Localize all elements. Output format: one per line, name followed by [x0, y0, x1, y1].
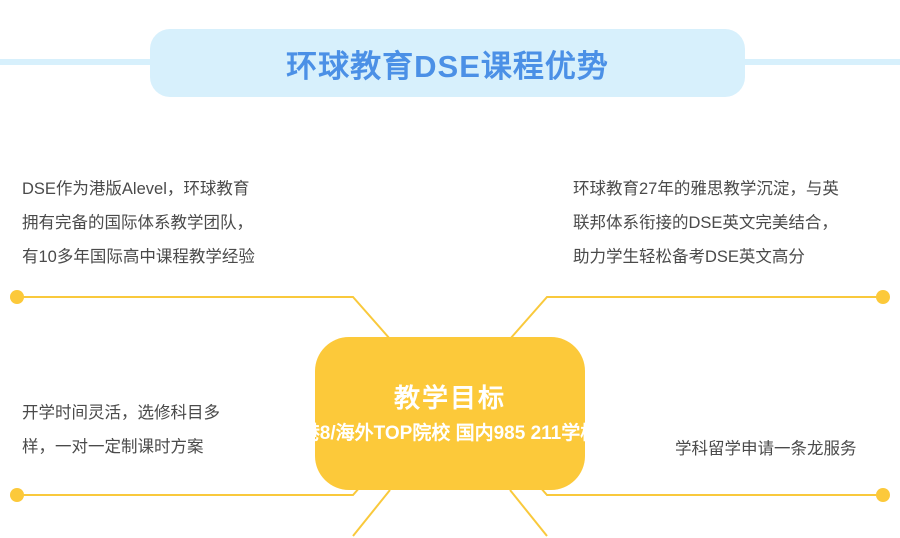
feature-top-right-line-1: 环球教育27年的雅思教学沉淀，与英 — [573, 172, 839, 206]
teaching-goal-subtitle: 港8/海外TOP院校 国内985 211学校 — [301, 421, 599, 448]
feature-top-right-line-2: 联邦体系衔接的DSE英文完美结合， — [573, 206, 839, 240]
endpoint-dot-top-right — [876, 290, 890, 304]
teaching-goal-subtitle-line-1: 港8/海外TOP院校 — [301, 423, 451, 444]
feature-text-top-left: DSE作为港版Alevel，环球教育 拥有完备的国际体系教学团队， 有10多年国… — [22, 172, 255, 274]
teaching-goal-card: 教学目标 港8/海外TOP院校 国内985 211学校 — [315, 337, 585, 490]
connector-splay-left — [353, 490, 390, 536]
dse-course-advantages-infographic: 环球教育DSE课程优势 教学目标 港8/海外TOP院校 国内985 211学校 … — [0, 0, 900, 538]
teaching-goal-subtitle-line-2: 国内985 211学校 — [456, 423, 600, 444]
header-rule-left — [0, 59, 160, 65]
teaching-goal-title: 教学目标 — [394, 383, 506, 414]
endpoint-dot-bottom-left — [10, 488, 24, 502]
feature-bottom-left-line-2: 样，一对一定制课时方案 — [22, 430, 220, 464]
connector-top-left — [17, 297, 390, 339]
feature-top-left-line-2: 拥有完备的国际体系教学团队， — [22, 206, 255, 240]
feature-bottom-left-line-1: 开学时间灵活，选修科目多 — [22, 396, 220, 430]
connector-top-right — [510, 297, 883, 339]
endpoint-dot-top-left — [10, 290, 24, 304]
header-rule-right — [740, 59, 900, 65]
endpoint-dot-bottom-right — [876, 488, 890, 502]
connector-splay-right — [510, 490, 547, 536]
title-banner: 环球教育DSE课程优势 — [150, 29, 745, 97]
page-title: 环球教育DSE课程优势 — [286, 41, 609, 86]
feature-top-right-line-3: 助力学生轻松备考DSE英文高分 — [573, 240, 839, 274]
feature-top-left-line-1: DSE作为港版Alevel，环球教育 — [22, 172, 255, 206]
feature-text-bottom-left: 开学时间灵活，选修科目多 样，一对一定制课时方案 — [22, 396, 220, 464]
feature-text-top-right: 环球教育27年的雅思教学沉淀，与英 联邦体系衔接的DSE英文完美结合， 助力学生… — [573, 172, 839, 274]
feature-bottom-right-line-1: 学科留学申请一条龙服务 — [675, 432, 857, 466]
feature-top-left-line-3: 有10多年国际高中课程教学经验 — [22, 240, 255, 274]
feature-text-bottom-right: 学科留学申请一条龙服务 — [675, 432, 857, 466]
